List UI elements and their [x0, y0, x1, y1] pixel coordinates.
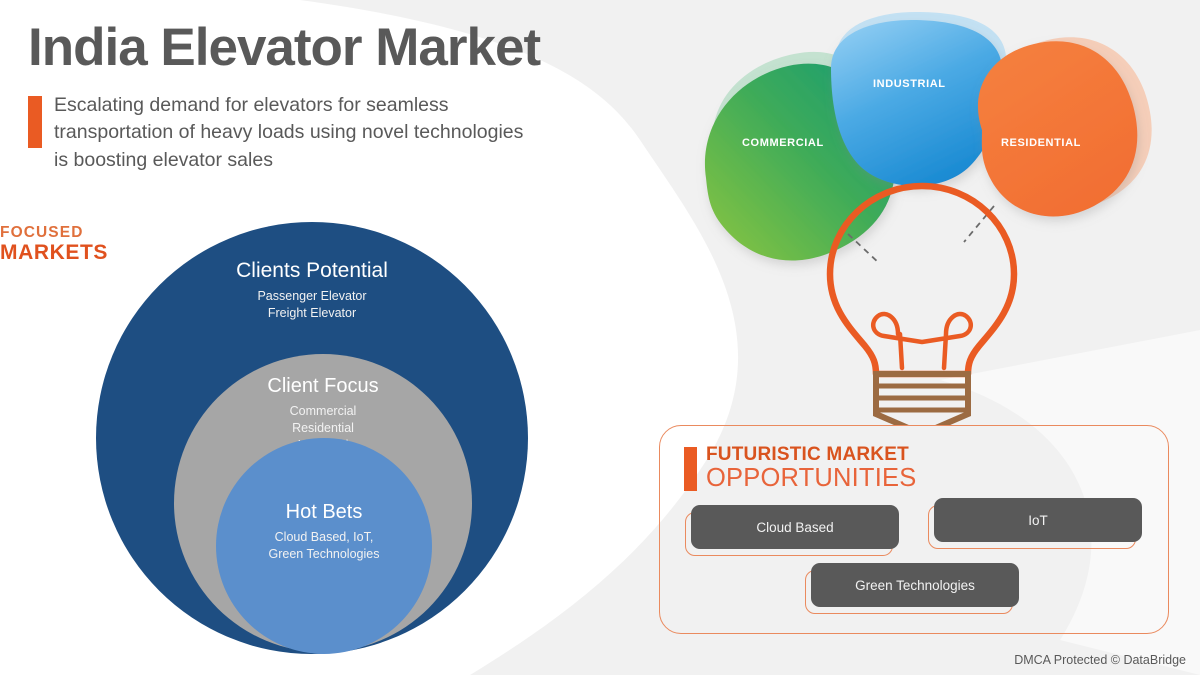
subtitle-text: Escalating demand for elevators for seam… [54, 92, 524, 175]
concentric-circles-diagram: Clients Potential Passenger Elevator Fre… [96, 222, 536, 652]
circle-label-clients-potential: Clients Potential Passenger Elevator Fre… [96, 258, 528, 322]
panel-heading: FUTURISTIC MARKET OPPORTUNITIES [684, 445, 916, 492]
footer-credit: DMCA Protected © DataBridge [1014, 653, 1186, 667]
page-title: India Elevator Market [28, 20, 628, 76]
panel-heading-line1: FUTURISTIC MARKET [706, 445, 916, 464]
circle-label-hot-bets: Hot Bets Cloud Based, IoT, Green Technol… [216, 500, 432, 563]
circle-title: Client Focus [174, 374, 472, 398]
accent-bar [28, 96, 42, 148]
focused-markets-diagram [676, 6, 1176, 426]
header: India Elevator Market Escalating demand … [28, 20, 628, 175]
bulb-base [876, 374, 968, 426]
bulb-glass [830, 186, 1014, 374]
residential-blob [978, 41, 1137, 216]
circle-items: Passenger Elevator Freight Elevator [96, 288, 528, 322]
industrial-blob [831, 20, 1003, 186]
infographic-canvas: India Elevator Market Escalating demand … [0, 0, 1200, 675]
circle-items: Cloud Based, IoT, Green Technologies [216, 529, 432, 563]
panel-accent-bar [684, 447, 697, 491]
circle-title: Clients Potential [96, 258, 528, 283]
circle-title: Hot Bets [216, 500, 432, 524]
circle-hot-bets: Hot Bets Cloud Based, IoT, Green Technol… [216, 438, 432, 654]
subtitle-block: Escalating demand for elevators for seam… [28, 92, 628, 175]
bulb-filament [873, 314, 971, 368]
panel-heading-line2: OPPORTUNITIES [706, 465, 916, 492]
futuristic-opportunities-panel: FUTURISTIC MARKET OPPORTUNITIES [659, 425, 1169, 634]
